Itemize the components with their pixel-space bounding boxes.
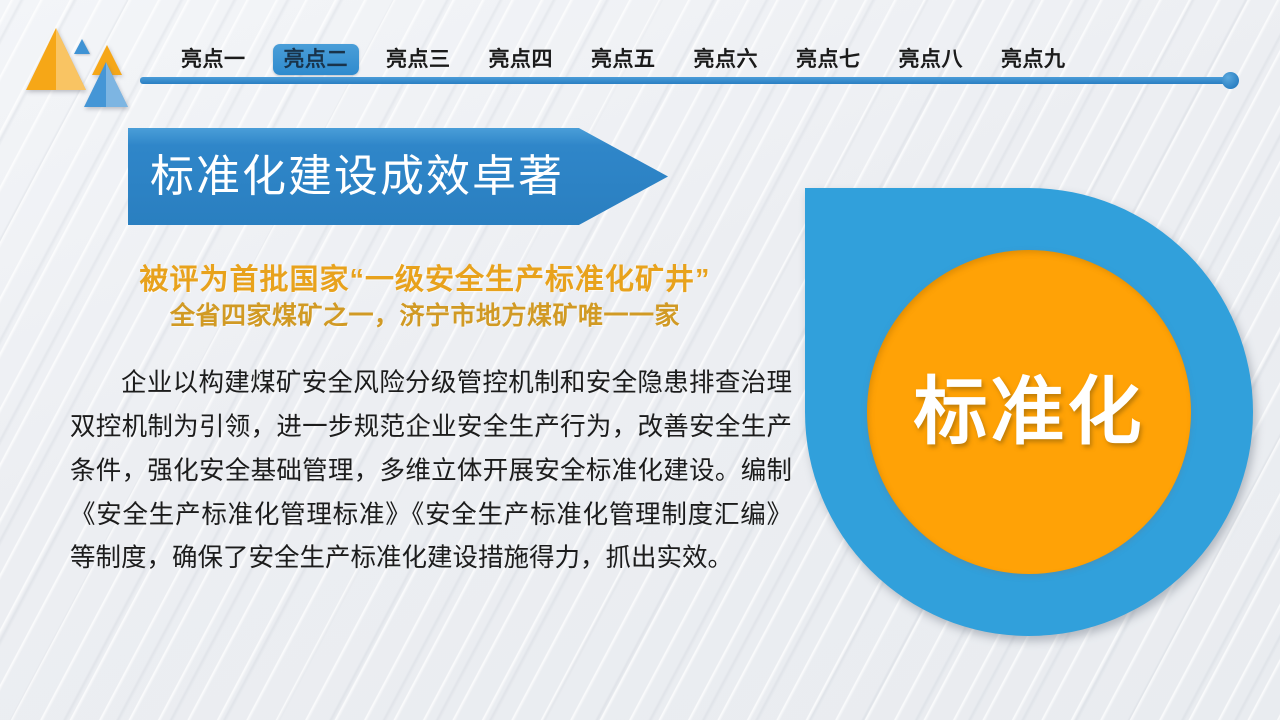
nav-end-dot-icon xyxy=(1222,72,1239,89)
logo-triangle-large-orange-icon xyxy=(26,28,86,90)
mountain-triangles-logo xyxy=(18,22,133,92)
section-title-banner: 标准化建设成效卓著 xyxy=(128,128,668,225)
teardrop-inner-circle: 标准化 xyxy=(867,250,1191,574)
highlight-line-secondary: 全省四家煤矿之一，济宁市地方煤矿唯一一家 xyxy=(60,300,790,333)
nav-tab-4[interactable]: 亮点四 xyxy=(478,44,565,75)
nav-tab-2[interactable]: 亮点二 xyxy=(273,44,360,75)
nav-tab-1[interactable]: 亮点一 xyxy=(170,44,257,75)
nav-tab-6[interactable]: 亮点六 xyxy=(683,44,770,75)
nav-tab-9[interactable]: 亮点九 xyxy=(990,44,1077,75)
nav-tab-5[interactable]: 亮点五 xyxy=(580,44,667,75)
page-title: 标准化建设成效卓著 xyxy=(150,155,564,199)
slide-canvas: 亮点一 亮点二 亮点三 亮点四 亮点五 亮点六 亮点七 亮点八 亮点九 标准化建… xyxy=(0,0,1280,720)
teardrop-graphic: 标准化 xyxy=(805,188,1253,636)
logo-triangle-small-blue-icon xyxy=(74,39,90,54)
nav-tab-8[interactable]: 亮点八 xyxy=(888,44,975,75)
logo-triangle-medium-blue-icon xyxy=(84,62,128,107)
nav-underline-rule xyxy=(140,77,1230,84)
teardrop-label: 标准化 xyxy=(914,375,1145,449)
highlight-callout: 被评为首批国家“一级安全生产标准化矿井” 全省四家煤矿之一，济宁市地方煤矿唯一一… xyxy=(60,262,790,333)
body-paragraph: 企业以构建煤矿安全风险分级管控机制和安全隐患排查治理双控机制为引领，进一步规范企… xyxy=(70,362,792,581)
slide-header: 亮点一 亮点二 亮点三 亮点四 亮点五 亮点六 亮点七 亮点八 亮点九 xyxy=(0,0,1280,110)
highlight-line-primary: 被评为首批国家“一级安全生产标准化矿井” xyxy=(60,262,790,298)
navigation-tabs[interactable]: 亮点一 亮点二 亮点三 亮点四 亮点五 亮点六 亮点七 亮点八 亮点九 xyxy=(170,43,1093,75)
nav-tab-7[interactable]: 亮点七 xyxy=(785,44,872,75)
nav-tab-3[interactable]: 亮点三 xyxy=(375,44,462,75)
